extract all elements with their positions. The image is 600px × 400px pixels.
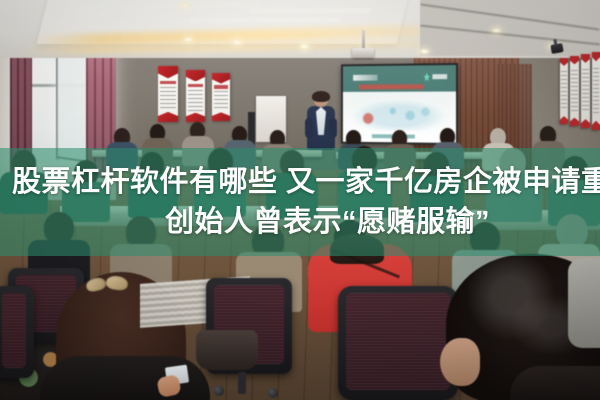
panel-lines	[561, 71, 567, 111]
presenter-hair	[312, 91, 330, 102]
panel-bottom-accent	[581, 119, 590, 128]
panel-top-accent	[592, 52, 600, 61]
panel-lines	[593, 68, 599, 115]
panel-bottom-accent	[570, 118, 579, 126]
slide-title-text	[358, 84, 423, 89]
poster-title-bar	[160, 81, 175, 85]
downlight	[492, 28, 501, 33]
ceiling-right-section	[420, 0, 600, 56]
ceiling-beam	[420, 25, 599, 46]
chair-caster	[214, 386, 224, 396]
panel-top-accent	[570, 56, 579, 64]
downlight	[180, 3, 189, 8]
downlight	[184, 37, 193, 42]
poster-title-bar	[214, 85, 228, 88]
foreground-chair-edge	[0, 286, 34, 378]
ceiling-light-strip	[119, 2, 261, 7]
wall-poster	[212, 73, 230, 121]
poster-bottom-accent	[212, 112, 230, 121]
poster-body-lines	[160, 87, 176, 109]
downlight	[233, 40, 242, 45]
handbag	[196, 330, 258, 370]
presenter-arm-left	[305, 118, 313, 138]
slide-logo-left	[353, 74, 377, 80]
foreground-person-ear	[440, 338, 480, 386]
thumbnail-image: 股票杠杆软件有哪些 又一家千亿房企被申请重整 创始人曾表示“愿赌服输”	[0, 0, 600, 400]
right-wall-panel	[581, 54, 590, 128]
right-wall-panel	[560, 58, 568, 124]
poster-top-accent	[212, 73, 230, 84]
panel-top-accent	[560, 58, 568, 66]
right-wall-panel	[570, 56, 579, 126]
panel-bottom-accent	[592, 121, 600, 130]
headline-line-1: 股票杠杆软件有哪些 又一家千亿房企被申请重整	[12, 162, 588, 202]
poster-top-accent	[158, 66, 178, 78]
slide-map-graphic	[352, 99, 447, 130]
projector-mount-rod	[362, 30, 365, 50]
chair-mesh-back	[346, 293, 450, 390]
poster-bottom-accent	[186, 113, 205, 122]
slide-logo-right	[424, 73, 447, 81]
ceiling-light-strip	[249, 8, 371, 13]
bird-logo-icon	[424, 72, 430, 81]
headline-line-2: 创始人曾表示“愿赌服输”	[12, 202, 588, 242]
foreground-person-sleeve	[568, 258, 600, 348]
panel-lines	[582, 69, 588, 113]
poster-top-accent	[186, 70, 205, 81]
poster-body-lines	[214, 91, 228, 110]
poster-bottom-accent	[158, 112, 178, 122]
poster-title-bar	[188, 84, 202, 88]
headline-text-block: 股票杠杆软件有哪些 又一家千亿房企被申请重整 创始人曾表示“愿赌服输”	[0, 148, 600, 256]
panel-top-accent	[581, 54, 590, 63]
wall-poster	[158, 66, 178, 122]
slide-logo-text	[432, 74, 447, 79]
wall-poster	[186, 70, 205, 122]
ceiling	[0, 0, 600, 58]
presenter-arm-right	[329, 118, 337, 138]
foreground-chair	[338, 286, 458, 400]
chair-mesh-back	[2, 293, 26, 368]
downlight	[300, 44, 309, 49]
poster-body-lines	[188, 90, 203, 111]
panel-lines	[571, 70, 577, 112]
chair-post	[238, 372, 246, 394]
panel-bottom-accent	[560, 116, 568, 124]
presenter	[306, 92, 336, 150]
downlight	[420, 49, 429, 54]
chair-caster	[268, 388, 278, 398]
ceiling-projector	[352, 48, 374, 58]
right-wall-panel	[592, 52, 600, 130]
ceiling-light-strip	[189, 18, 341, 22]
foreground-person-shoulder	[510, 366, 600, 400]
